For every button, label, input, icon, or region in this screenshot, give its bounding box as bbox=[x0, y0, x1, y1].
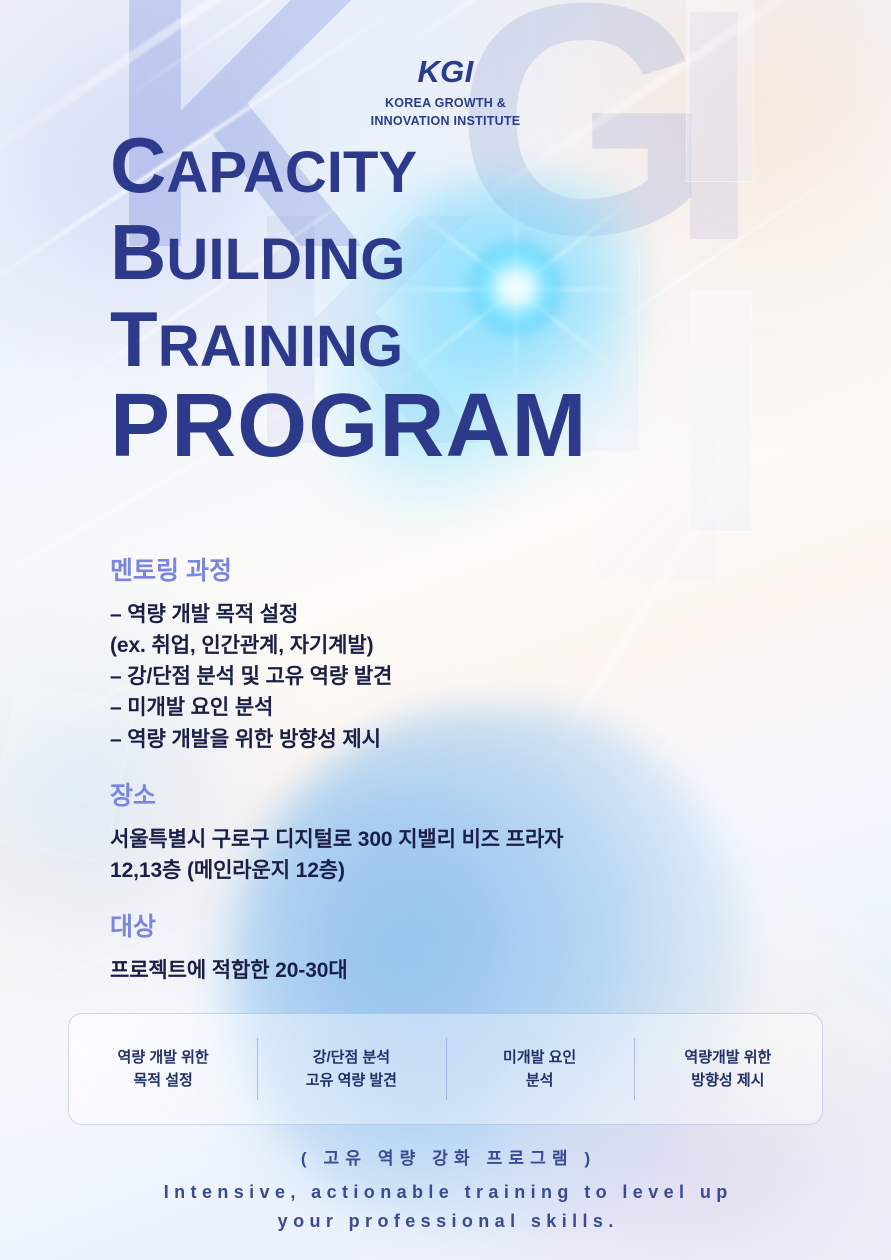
feature-cell-3: 미개발 요인 분석 bbox=[446, 1046, 634, 1093]
logo-subtitle-line1: KOREA GROWTH & bbox=[0, 94, 891, 112]
poster-title: CAPACITY BUILDING TRAINING PROGRAM bbox=[110, 128, 588, 469]
section-heading-audience: 대상 bbox=[110, 912, 750, 943]
poster: K G I K KGI KOREA GROWTH & I bbox=[0, 0, 891, 1260]
mentoring-line-1: – 역량 개발 목적 설정 bbox=[110, 599, 750, 630]
title-line-training: TRAINING bbox=[110, 302, 588, 377]
mentoring-line-3: – 강/단점 분석 및 고유 역량 발견 bbox=[110, 661, 750, 692]
mentoring-line-2: (ex. 취업, 인간관계, 자기계발) bbox=[110, 630, 750, 661]
mentoring-line-4: – 미개발 요인 분석 bbox=[110, 692, 750, 723]
mentoring-line-5: – 역량 개발을 위한 방향성 제시 bbox=[110, 724, 750, 755]
footer-english-line2: your professional skills. bbox=[0, 1207, 891, 1236]
feature-cell-2: 강/단점 분석 고유 역량 발견 bbox=[257, 1046, 445, 1093]
poster-content: KGI KOREA GROWTH & INNOVATION INSTITUTE … bbox=[0, 0, 891, 1260]
feature-cell-1: 역량 개발 위한 목적 설정 bbox=[69, 1046, 257, 1093]
title-line-capacity: CAPACITY bbox=[110, 128, 588, 203]
feature-cell-4: 역량개발 위한 방향성 제시 bbox=[634, 1046, 822, 1093]
feature-4-line2: 방향성 제시 bbox=[634, 1069, 822, 1092]
footer-korean-tagline: ( 고유 역량 강화 프로그램 ) bbox=[0, 1146, 891, 1172]
title-capacity-initial: C bbox=[110, 121, 166, 209]
footer-english-line1: Intensive, actionable training to level … bbox=[0, 1178, 891, 1207]
location-line-1: 서울특별시 구로구 디지털로 300 지밸리 비즈 프라자 bbox=[110, 824, 750, 855]
title-training-initial: T bbox=[110, 295, 158, 383]
title-line-program: PROGRAM bbox=[110, 383, 588, 469]
feature-4-line1: 역량개발 위한 bbox=[634, 1046, 822, 1069]
title-line-building: BUILDING bbox=[110, 215, 588, 290]
feature-2-line2: 고유 역량 발견 bbox=[257, 1069, 445, 1092]
kgi-logo: KGI KOREA GROWTH & INNOVATION INSTITUTE bbox=[0, 56, 891, 130]
logo-mark: KGI bbox=[0, 56, 891, 87]
audience-line-1: 프로젝트에 적합한 20-30대 bbox=[110, 955, 750, 986]
title-building-rest: UILDING bbox=[166, 227, 405, 292]
feature-1-line1: 역량 개발 위한 bbox=[69, 1046, 257, 1069]
poster-body: 멘토링 과정 – 역량 개발 목적 설정 (ex. 취업, 인간관계, 자기계발… bbox=[110, 556, 750, 986]
location-line-2: 12,13층 (메인라운지 12층) bbox=[110, 855, 750, 886]
feature-2-line1: 강/단점 분석 bbox=[257, 1046, 445, 1069]
title-training-rest: RAINING bbox=[158, 314, 403, 379]
feature-1-line2: 목적 설정 bbox=[69, 1069, 257, 1092]
feature-3-line2: 분석 bbox=[446, 1069, 634, 1092]
title-capacity-rest: APACITY bbox=[166, 140, 417, 205]
feature-summary-box: 역량 개발 위한 목적 설정 강/단점 분석 고유 역량 발견 미개발 요인 분… bbox=[68, 1013, 823, 1125]
feature-3-line1: 미개발 요인 bbox=[446, 1046, 634, 1069]
title-building-initial: B bbox=[110, 208, 166, 296]
poster-footer: ( 고유 역량 강화 프로그램 ) Intensive, actionable … bbox=[0, 1146, 891, 1236]
section-heading-mentoring: 멘토링 과정 bbox=[110, 556, 750, 587]
section-heading-location: 장소 bbox=[110, 781, 750, 812]
